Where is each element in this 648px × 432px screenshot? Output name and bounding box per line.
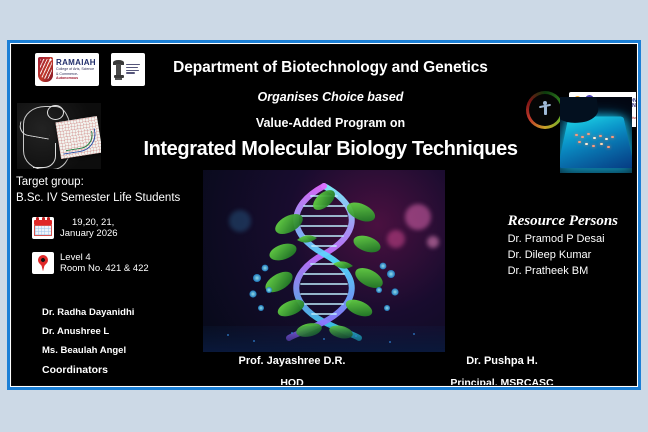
- principal-name: Dr. Pushpa H.: [412, 355, 592, 367]
- event-date-line-1: 19,20, 21,: [60, 217, 118, 228]
- poster-canvas: ✦ RAMAIAH College of Arts, Science & Com…: [11, 44, 637, 386]
- department-title: Department of Biotechnology and Genetics: [138, 59, 523, 77]
- ramaiah-shield-icon: ✦: [38, 57, 53, 82]
- resource-persons-title: Resource Persons: [508, 213, 618, 230]
- poster-page: ✦ RAMAIAH College of Arts, Science & Com…: [0, 0, 648, 432]
- resource-person-name: Dr. Pramod P Desai: [508, 232, 618, 248]
- hod-name: Prof. Jayashree D.R.: [207, 355, 377, 367]
- event-venue-line-2: Room No. 421 & 422: [60, 263, 149, 274]
- ramaiah-logo-name: RAMAIAH: [56, 59, 96, 67]
- principal-signatory: Dr. Pushpa H. Principal, MSRCASC: [412, 355, 592, 386]
- ramaiah-college-logo: ✦ RAMAIAH College of Arts, Science & Com…: [35, 53, 99, 86]
- location-pin-icon: [32, 252, 54, 274]
- institution-seal-logo: [526, 91, 564, 129]
- coordinator-name: Dr. Anushree L: [42, 322, 134, 341]
- target-group-value: B.Sc. IV Semester Life Students: [16, 191, 180, 207]
- event-date-row: 19,20, 21, January 2026: [32, 217, 118, 240]
- coordinators-block: Dr. Radha Dayanidhi Dr. Anushree L Ms. B…: [42, 303, 134, 381]
- hod-signatory: Prof. Jayashree D.R. HOD: [207, 355, 377, 386]
- organises-line: Organises Choice based: [138, 90, 523, 104]
- event-venue-row: Level 4 Room No. 421 & 422: [32, 252, 149, 275]
- program-title: Integrated Molecular Biology Techniques: [108, 138, 553, 161]
- calendar-icon: [32, 217, 54, 239]
- principal-role: Principal, MSRCASC: [412, 377, 592, 386]
- target-group-block: Target group: B.Sc. IV Semester Life Stu…: [16, 175, 180, 206]
- dna-helix-plant-image: [203, 170, 445, 352]
- institution-seal-icon: [539, 101, 551, 117]
- event-date-line-2: January 2026: [60, 228, 118, 239]
- forensic-body-outline-chart-image: [17, 103, 101, 169]
- ramaiah-logo-subtitle-2: & Commerce-Autonomous: [56, 73, 96, 80]
- resource-person-name: Dr. Dileep Kumar: [508, 248, 618, 264]
- coordinator-name: Dr. Radha Dayanidhi: [42, 303, 134, 322]
- coordinator-name: Ms. Beaulah Angel: [42, 341, 134, 360]
- resource-persons-block: Resource Persons Dr. Pramod P Desai Dr. …: [508, 213, 618, 280]
- electrophoresis-gel-uv-image: [560, 97, 632, 173]
- event-venue-line-1: Level 4: [60, 252, 149, 263]
- hod-role: HOD: [207, 377, 377, 386]
- coordinators-label: Coordinators: [42, 360, 134, 381]
- program-type-line: Value-Added Program on: [138, 116, 523, 130]
- dna-helix-icon: [249, 182, 399, 342]
- target-group-label: Target group:: [16, 175, 180, 191]
- resource-person-name: Dr. Pratheek BM: [508, 264, 618, 280]
